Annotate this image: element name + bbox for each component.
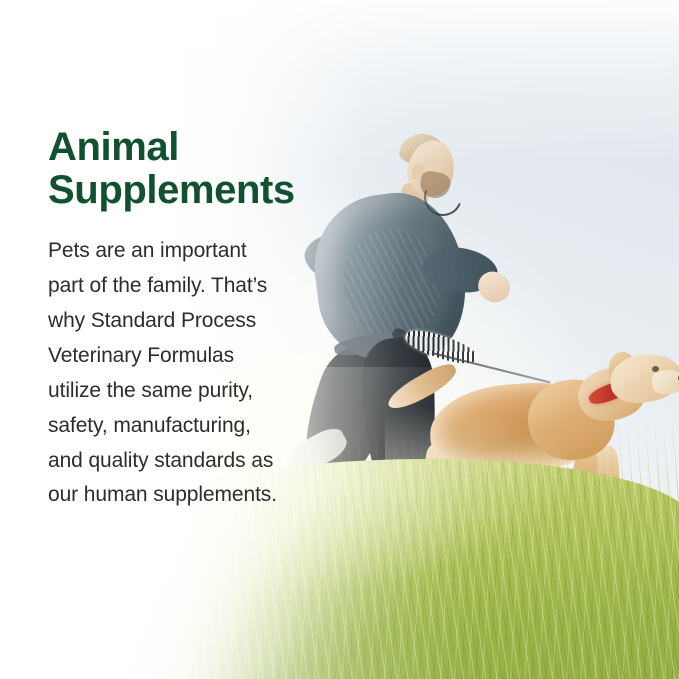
body-line-5: utilize the same purity, — [48, 374, 316, 409]
body-line-2: part of the family. That’s — [48, 269, 316, 304]
body-line-8: our human supplements. — [48, 478, 316, 513]
body-line-6: safety, manufacturing, — [48, 409, 316, 444]
dog-muzzle — [651, 368, 679, 395]
headline-line-1: Animal — [48, 126, 316, 169]
body-line-4: Veterinary Formulas — [48, 339, 316, 374]
headline-line-2: Supplements — [48, 169, 316, 212]
animal-supplements-poster: Animal Supplements Pets are an important… — [0, 0, 679, 679]
dog-eye — [652, 366, 659, 372]
body-line-3: why Standard Process — [48, 304, 316, 339]
body-line-7: and quality standards as — [48, 444, 316, 479]
body-line-1: Pets are an important — [48, 234, 316, 269]
body-paragraph: Pets are an important part of the family… — [48, 234, 316, 513]
page-title: Animal Supplements — [48, 126, 316, 212]
copy-block: Animal Supplements Pets are an important… — [48, 126, 316, 513]
